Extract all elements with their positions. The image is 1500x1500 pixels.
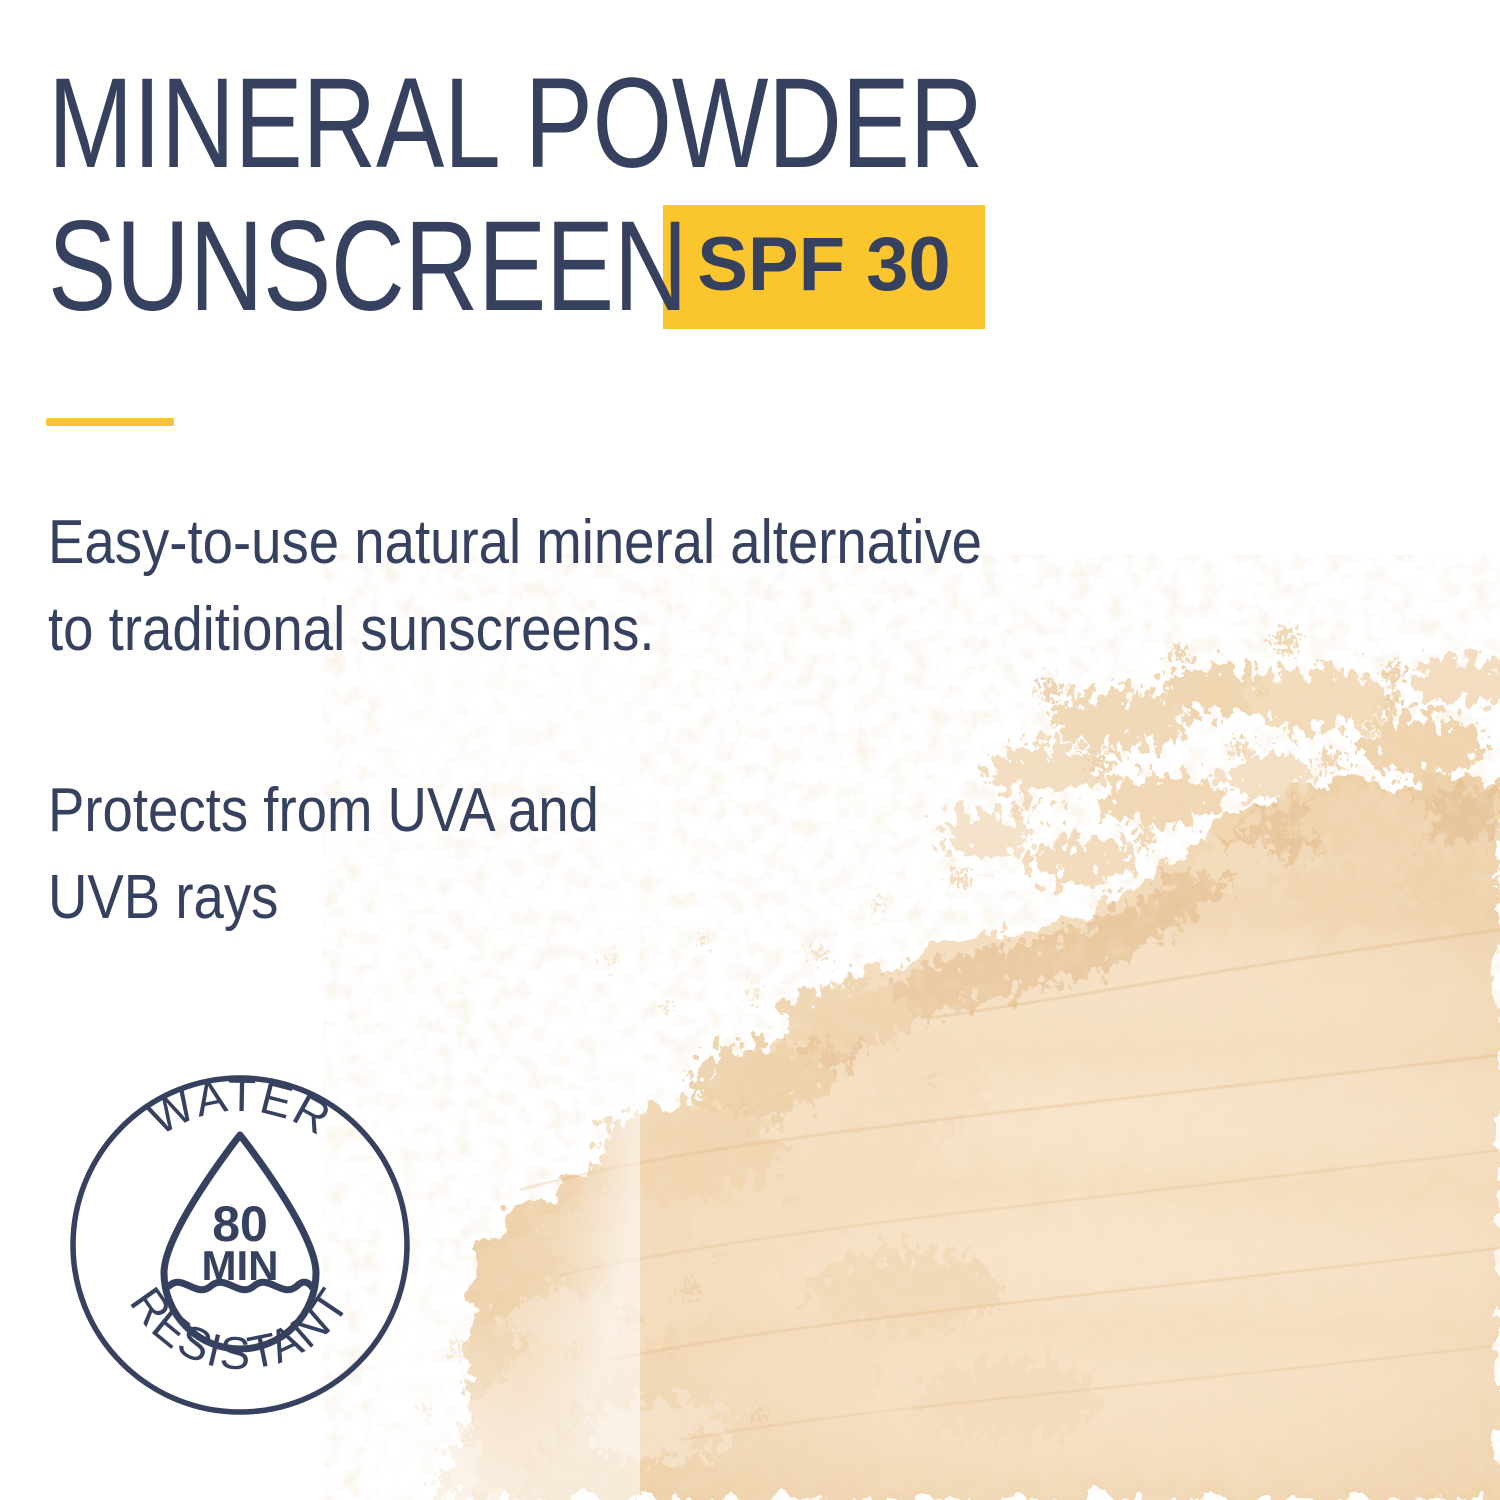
water-resistant-badge: WATER RESISTANT 80 MIN — [68, 1073, 412, 1417]
badge-bottom-arc-textpath: RESISTANT — [120, 1278, 359, 1380]
headline-text-line1: MINERAL POWDER — [48, 52, 983, 195]
spf-badge: SPF 30 — [663, 205, 984, 329]
droplet-unit: MIN — [202, 1242, 279, 1289]
headline-text-line2: SUNSCREEN — [48, 195, 687, 338]
product-feature-image: MINERAL POWDER SUNSCREEN SPF 30 Easy-to-… — [0, 0, 1500, 1500]
body-paragraph-1: Easy-to-use natural mineral alternative … — [48, 500, 982, 674]
yellow-divider — [46, 418, 174, 426]
badge-bottom-arc-label: RESISTANT — [120, 1278, 359, 1380]
page-title: MINERAL POWDER SUNSCREEN SPF 30 — [48, 52, 1288, 339]
body-paragraph-2: Protects from UVA and UVB rays — [48, 768, 599, 942]
headline-line-2: SUNSCREEN SPF 30 — [48, 195, 1288, 338]
headline-line-1: MINERAL POWDER — [48, 52, 1288, 195]
